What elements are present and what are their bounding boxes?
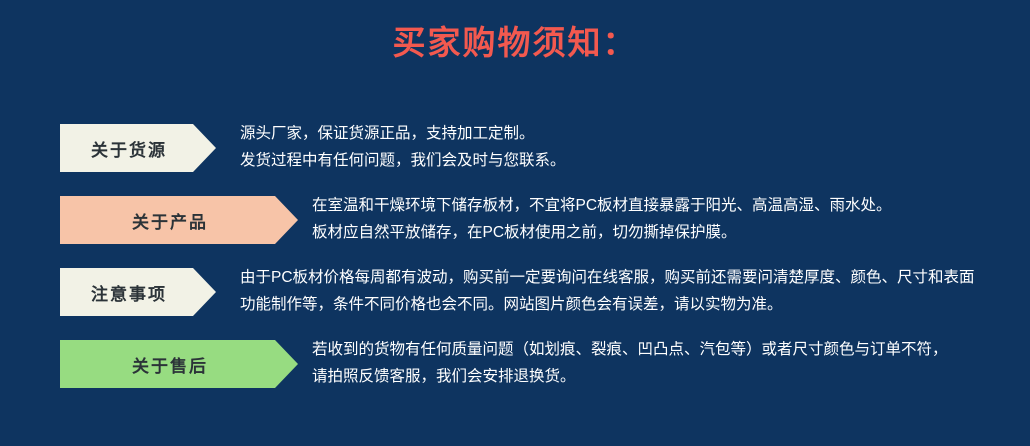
notice-text-line: 若收到的货物有任何质量问题（如划痕、裂痕、凹凸点、汽包等）或者尺寸颜色与订单不符… [312, 336, 948, 363]
notice-text-line: 请拍照反馈客服，我们会安排退换货。 [312, 363, 948, 390]
notice-text-line: 由于PC板材价格每周都有波动，购买前一定要询问在线客服，购买前还需要问清楚厚度、… [240, 264, 975, 291]
notice-text-after-sales: 若收到的货物有任何质量问题（如划痕、裂痕、凹凸点、汽包等）或者尺寸颜色与订单不符… [312, 336, 948, 390]
tag-banner-label: 关于货源 [91, 136, 185, 161]
notice-text-line: 板材应自然平放储存，在PC板材使用之前，切勿撕掉保护膜。 [312, 219, 892, 246]
tag-banner-label: 注意事项 [91, 280, 185, 305]
notice-text-line: 在室温和干燥环境下储存板材，不宜将PC板材直接暴露于阳光、高温高湿、雨水处。 [312, 192, 892, 219]
notice-row-product: 关于产品 在室温和干燥环境下储存板材，不宜将PC板材直接暴露于阳光、高温高湿、雨… [0, 188, 1030, 260]
notice-text-line: 发货过程中有任何问题，我们会及时与您联系。 [240, 147, 566, 174]
tag-banner-after-sales: 关于售后 [60, 340, 298, 388]
page-title: 买家购物须知： [0, 22, 1030, 64]
notice-section-list: 关于货源 源头厂家，保证货源正品，支持加工定制。 发货过程中有任何问题，我们会及… [0, 116, 1030, 404]
notice-row-after-sales: 关于售后 若收到的货物有任何质量问题（如划痕、裂痕、凹凸点、汽包等）或者尺寸颜色… [0, 332, 1030, 404]
notice-row-goods-source: 关于货源 源头厂家，保证货源正品，支持加工定制。 发货过程中有任何问题，我们会及… [0, 116, 1030, 188]
notice-text-line: 源头厂家，保证货源正品，支持加工定制。 [240, 120, 566, 147]
notice-text-attention: 由于PC板材价格每周都有波动，购买前一定要询问在线客服，购买前还需要问清楚厚度、… [240, 264, 975, 318]
tag-banner-goods-source: 关于货源 [60, 124, 216, 172]
notice-row-attention: 注意事项 由于PC板材价格每周都有波动，购买前一定要询问在线客服，购买前还需要问… [0, 260, 1030, 332]
notice-text-product: 在室温和干燥环境下储存板材，不宜将PC板材直接暴露于阳光、高温高湿、雨水处。 板… [312, 192, 892, 246]
shopping-notice-banner: 买家购物须知： 关于货源 源头厂家，保证货源正品，支持加工定制。 发货过程中有任… [0, 0, 1030, 446]
tag-banner-product: 关于产品 [60, 196, 298, 244]
tag-banner-label: 关于产品 [132, 208, 226, 233]
tag-banner-label: 关于售后 [132, 352, 226, 377]
notice-text-goods-source: 源头厂家，保证货源正品，支持加工定制。 发货过程中有任何问题，我们会及时与您联系… [240, 120, 566, 174]
tag-banner-attention: 注意事项 [60, 268, 216, 316]
notice-text-line: 功能制作等，条件不同价格也会不同。网站图片颜色会有误差，请以实物为准。 [240, 291, 975, 318]
